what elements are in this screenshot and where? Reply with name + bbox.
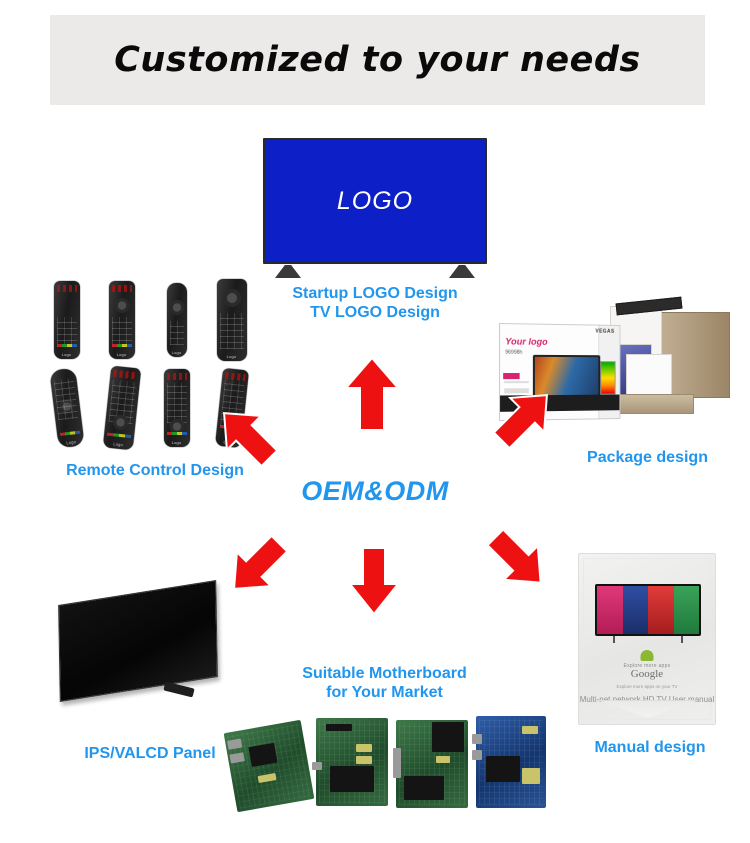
remote-top-keys bbox=[112, 285, 132, 292]
caption-manual-design: Manual design bbox=[555, 738, 745, 757]
remote-item: Logo bbox=[54, 281, 80, 359]
pcb-heatsink bbox=[330, 766, 374, 792]
remote-color-keys bbox=[167, 432, 187, 435]
caption-package-design: Package design bbox=[545, 448, 750, 467]
android-robot-icon bbox=[641, 650, 654, 661]
manual-cover-fineprint: Explore more apps on your TV bbox=[579, 684, 715, 689]
remote-top-keys bbox=[57, 285, 77, 292]
arrow-upleft-to-remote bbox=[208, 406, 284, 464]
header-banner: Customized to your needs bbox=[50, 15, 705, 105]
manual-tile bbox=[623, 586, 649, 634]
arrow-upright-to-package bbox=[486, 386, 564, 448]
pcb-capacitor bbox=[436, 756, 450, 763]
manual-tv-image bbox=[595, 584, 701, 636]
remote-logo-label: Logo bbox=[109, 352, 135, 357]
remote-dpad bbox=[112, 414, 128, 430]
remote-logo-label: Logo bbox=[57, 438, 83, 446]
pcb-connector bbox=[404, 776, 444, 800]
tv-bezel: LOGO bbox=[263, 138, 487, 264]
arrow-downleft-to-panel bbox=[218, 536, 294, 598]
lcd-panel-mockup bbox=[52, 585, 232, 710]
pcb-port bbox=[312, 762, 322, 770]
tv-logo-mockup: LOGO bbox=[263, 138, 487, 278]
google-wordmark: Google bbox=[579, 668, 715, 680]
tv-screen-logo-text: LOGO bbox=[337, 187, 413, 216]
pcb-heatsink bbox=[486, 756, 520, 782]
pcb-module bbox=[432, 722, 464, 752]
remote-item: Logo bbox=[164, 369, 190, 447]
pcb-transformer bbox=[522, 768, 540, 784]
remote-logo-label: Logo bbox=[164, 440, 190, 445]
arrow-up-to-logo bbox=[344, 356, 400, 432]
infographic-page: Customized to your needs LOGO Startup LO… bbox=[0, 0, 750, 843]
motherboard-item bbox=[316, 718, 388, 806]
tv-screen: LOGO bbox=[265, 140, 485, 262]
caption-logo-design: Startup LOGO Design TV LOGO Design bbox=[250, 284, 500, 322]
package-brand-text: VEGAS bbox=[505, 327, 614, 337]
lcd-flex-cable bbox=[163, 682, 194, 698]
pcb-capacitor bbox=[356, 744, 372, 752]
pcb-capacitor bbox=[356, 756, 372, 764]
remote-color-keys bbox=[57, 344, 77, 347]
remote-dpad bbox=[114, 298, 129, 313]
remote-top-keys bbox=[167, 373, 187, 380]
remote-color-keys bbox=[107, 433, 131, 438]
motherboard-item bbox=[396, 720, 468, 808]
package-energy-label bbox=[600, 361, 615, 395]
remote-keypad bbox=[170, 321, 184, 345]
manual-tile bbox=[597, 586, 623, 634]
remote-item: Logo bbox=[217, 279, 247, 361]
manual-tile bbox=[648, 586, 674, 634]
arrow-downright-to-manual bbox=[478, 528, 558, 592]
arrow-down-to-motherboard bbox=[348, 546, 400, 616]
remote-dpad bbox=[223, 289, 241, 307]
remote-color-keys bbox=[112, 344, 132, 347]
remote-dpad bbox=[169, 300, 184, 315]
pcb-capacitor bbox=[522, 726, 538, 734]
package-your-logo-text: Your logo bbox=[505, 336, 547, 347]
remote-logo-label: Logo bbox=[103, 440, 133, 448]
remote-keypad bbox=[57, 317, 77, 347]
remote-keypad bbox=[53, 378, 78, 420]
center-label-oem-odm: OEM&ODM bbox=[0, 476, 750, 507]
remote-keypad bbox=[112, 317, 132, 347]
manual-tv-stand bbox=[609, 636, 687, 643]
remote-logo-label: Logo bbox=[167, 350, 187, 355]
remote-item: Logo bbox=[102, 366, 140, 451]
manual-design-mockup: Explore more apps Google Explore more ap… bbox=[578, 553, 716, 725]
package-pink-badge bbox=[503, 373, 519, 379]
pcb-port bbox=[393, 748, 401, 778]
lcd-panel-surface bbox=[58, 580, 218, 702]
page-title: Customized to your needs bbox=[114, 40, 641, 80]
motherboard-group bbox=[228, 708, 546, 812]
remote-keypad bbox=[220, 313, 244, 349]
remote-top-keys bbox=[113, 370, 138, 379]
tv-stand-left bbox=[275, 265, 301, 278]
pcb-traces bbox=[227, 723, 311, 808]
remote-item: Logo bbox=[167, 283, 187, 357]
remote-item: Logo bbox=[109, 281, 135, 359]
pcb-port bbox=[472, 750, 482, 760]
remote-logo-label: Logo bbox=[54, 352, 80, 357]
package-model-text: 96998h bbox=[505, 350, 522, 356]
pcb-chip bbox=[326, 724, 352, 731]
caption-suitable-motherboard: Suitable Motherboard for Your Market bbox=[282, 664, 487, 702]
remote-logo-label: Logo bbox=[217, 354, 247, 359]
remote-keypad bbox=[167, 383, 187, 423]
manual-tile bbox=[674, 586, 700, 634]
remote-item: Logo bbox=[49, 368, 84, 449]
tv-stand-right bbox=[449, 265, 475, 278]
pcb-port bbox=[472, 734, 482, 744]
motherboard-item bbox=[224, 720, 315, 812]
remote-color-keys bbox=[59, 431, 79, 436]
motherboard-item bbox=[476, 716, 546, 808]
